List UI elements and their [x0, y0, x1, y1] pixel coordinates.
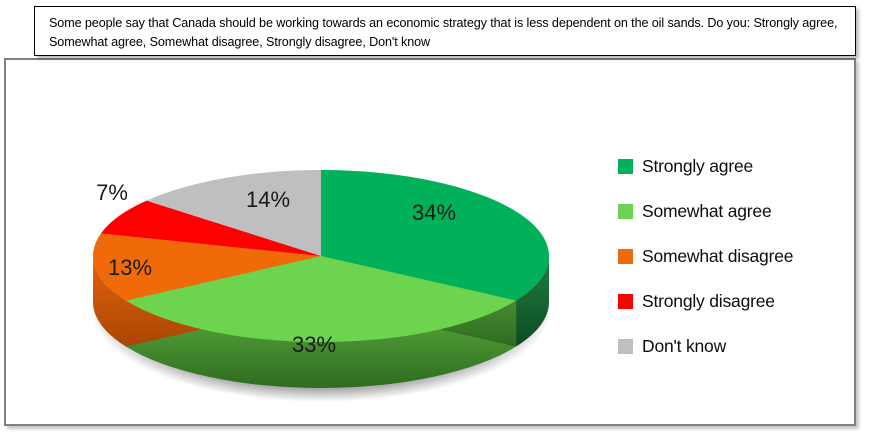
legend-swatch-icon — [618, 249, 633, 264]
legend-swatch-icon — [618, 339, 633, 354]
pie-label-somewhat-agree: 33% — [292, 332, 336, 357]
legend-label: Somewhat disagree — [642, 246, 793, 267]
chart-legend: Strongly agree Somewhat agree Somewhat d… — [618, 144, 858, 369]
legend-item-somewhat-agree[interactable]: Somewhat agree — [618, 189, 858, 234]
pie-label-strongly-agree: 34% — [412, 200, 456, 225]
question-title-text: Some people say that Canada should be wo… — [49, 14, 841, 52]
legend-item-somewhat-disagree[interactable]: Somewhat disagree — [618, 234, 858, 279]
pie-chart-svg[interactable]: 34% 33% 13% 7% 14% — [6, 60, 606, 424]
legend-label: Strongly agree — [642, 156, 753, 177]
pie-label-somewhat-disagree: 13% — [108, 255, 152, 280]
pie-chart-area: 34% 33% 13% 7% 14% — [6, 60, 606, 424]
pie-top-face[interactable] — [93, 170, 549, 342]
pie-label-strongly-disagree: 7% — [96, 180, 128, 205]
pie-label-dont-know: 14% — [246, 187, 290, 212]
legend-item-strongly-disagree[interactable]: Strongly disagree — [618, 279, 858, 324]
legend-swatch-icon — [618, 204, 633, 219]
legend-swatch-icon — [618, 159, 633, 174]
legend-item-dont-know[interactable]: Don't know — [618, 324, 858, 369]
legend-label: Strongly disagree — [642, 291, 775, 312]
chart-frame: 34% 33% 13% 7% 14% Strongly agree Somewh… — [4, 58, 856, 426]
legend-label: Don't know — [642, 336, 726, 357]
legend-item-strongly-agree[interactable]: Strongly agree — [618, 144, 858, 189]
question-title-box: Some people say that Canada should be wo… — [34, 6, 856, 56]
legend-swatch-icon — [618, 294, 633, 309]
legend-label: Somewhat agree — [642, 201, 772, 222]
